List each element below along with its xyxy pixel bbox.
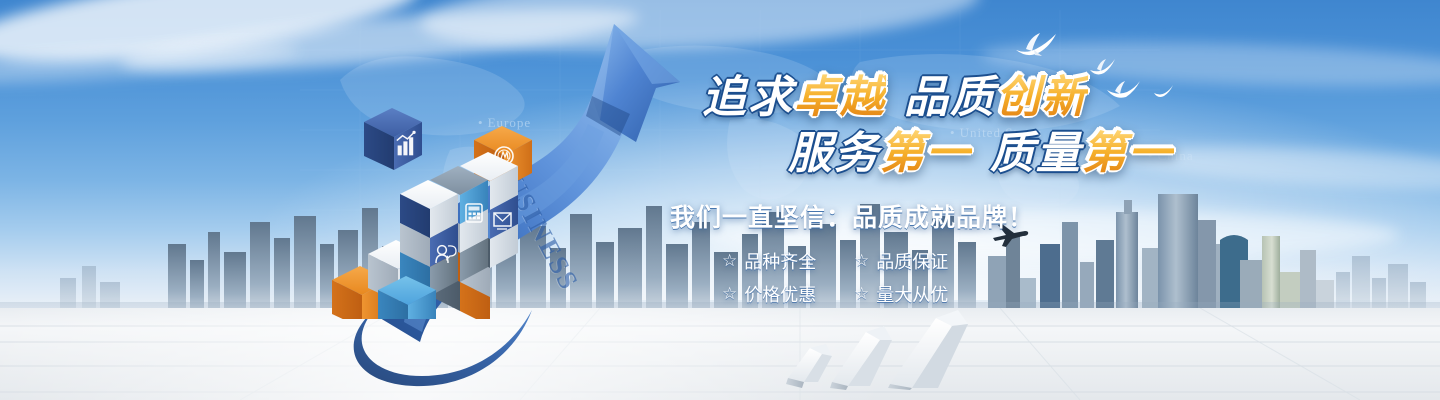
headline-seg: 服务 bbox=[788, 128, 880, 179]
star-outline-icon: ☆ bbox=[854, 286, 869, 303]
feature-item: ☆ 量大从优 bbox=[854, 281, 978, 307]
feature-label: 量大从优 bbox=[876, 281, 948, 307]
feature-item: ☆ 价格优惠 bbox=[722, 281, 846, 307]
feature-label: 品种齐全 bbox=[744, 248, 816, 274]
subheadline: 我们一直坚信：品质成就品牌！ bbox=[670, 198, 1226, 234]
headline-seg: 第一 bbox=[880, 128, 972, 179]
headline-seg: 追求 bbox=[702, 72, 794, 123]
headline-line-1: 追求卓越品质创新 bbox=[702, 72, 1226, 124]
feature-label: 价格优惠 bbox=[744, 281, 816, 307]
headline-line-2: 服务第一质量第一 bbox=[788, 128, 1226, 180]
feature-item: ☆ 品质保证 bbox=[854, 248, 978, 274]
rubiks-cube-graphic bbox=[326, 104, 566, 319]
headline-seg: 质量 bbox=[990, 128, 1082, 179]
star-outline-icon: ☆ bbox=[722, 286, 737, 303]
headline-seg: 第一 bbox=[1082, 128, 1174, 179]
plaza-sheen bbox=[0, 308, 1440, 400]
feature-list: ☆ 品种齐全 ☆ 品质保证 ☆ 价格优惠 ☆ 量大从优 bbox=[722, 248, 990, 307]
ascending-arrows-graphic bbox=[770, 304, 1000, 390]
plaza-floor bbox=[0, 308, 1440, 400]
headline-seg: 卓越 bbox=[794, 72, 886, 123]
headline-seg: 创新 bbox=[996, 72, 1088, 123]
promo-banner: Europe United States China bbox=[0, 0, 1440, 400]
dove-icon bbox=[1012, 30, 1058, 60]
banner-copy: 追求卓越品质创新 服务第一质量第一 我们一直坚信：品质成就品牌！ ☆ 品种齐全 … bbox=[666, 72, 1226, 307]
star-outline-icon: ☆ bbox=[722, 253, 737, 270]
star-outline-icon: ☆ bbox=[854, 253, 869, 270]
feature-label: 品质保证 bbox=[876, 248, 948, 274]
headline-seg: 品质 bbox=[904, 72, 996, 123]
feature-item: ☆ 品种齐全 bbox=[722, 248, 846, 274]
